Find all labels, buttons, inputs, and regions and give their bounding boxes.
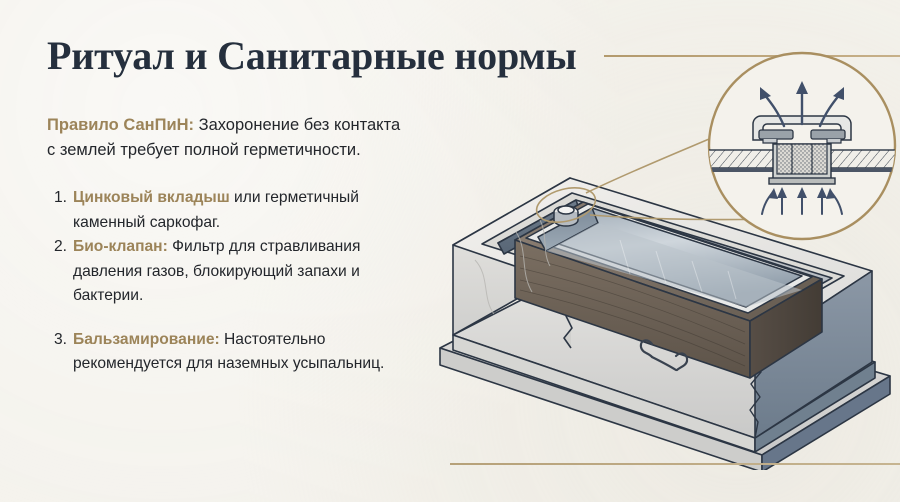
list-item-term: Цинковый вкладыш — [73, 189, 230, 206]
list-item-number: 2. — [47, 235, 67, 260]
list-item-term: Био-клапан: — [73, 238, 168, 255]
list-item-number: 3. — [47, 328, 67, 353]
lead-paragraph: Правило СанПиН: Захоронение без контакта… — [47, 113, 402, 163]
list-item-term: Бальзамирование: — [73, 331, 220, 348]
valve-filter-mesh — [777, 144, 827, 174]
lead-term: Правило СанПиН: — [47, 116, 194, 134]
bottom-divider-rule — [450, 463, 900, 465]
bio-valve-callout — [520, 78, 900, 228]
requirements-list: 1.Цинковый вкладыш или герметичный камен… — [47, 186, 402, 377]
page-title: Ритуал и Санитарные нормы — [47, 33, 576, 79]
list-item: 3.Бальзамирование: Настоятельно рекоменд… — [47, 328, 402, 377]
title-divider-rule — [604, 55, 900, 57]
list-item: 1.Цинковый вкладыш или герметичный камен… — [47, 186, 402, 235]
content-column: Правило СанПиН: Захоронение без контакта… — [47, 113, 402, 377]
slide-root: Ритуал и Санитарные нормы Правило СанПиН… — [0, 0, 900, 502]
list-item-number: 1. — [47, 186, 67, 211]
list-item: 2.Био-клапан: Фильтр для стравливания да… — [47, 235, 402, 309]
